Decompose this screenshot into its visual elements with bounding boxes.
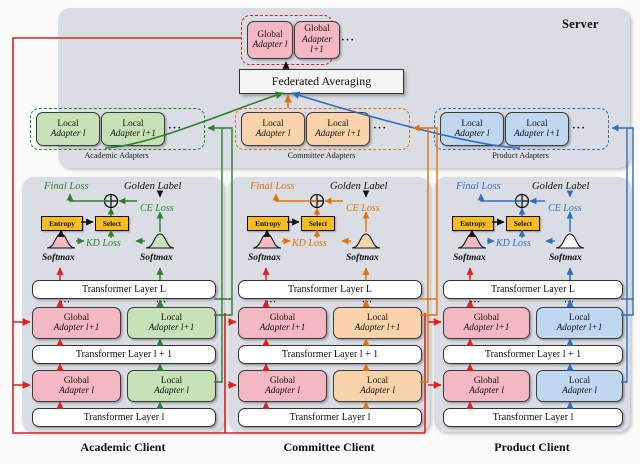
adapter-line1: Global <box>64 376 89 386</box>
committee-local-adapter-l[interactable]: Local Adapter l <box>241 112 305 146</box>
academic-transformer-layer-l[interactable]: Transformer Layer l <box>32 408 216 427</box>
product-adapters-ellipsis: ··· <box>572 122 586 134</box>
product-local-adapter-l1[interactable]: Local Adapter l+1 <box>505 112 569 146</box>
academic-ce-loss-label: CE Loss <box>140 203 174 214</box>
committee-local-adapter-l1[interactable]: Local Adapter l+1 <box>306 112 370 146</box>
select-label: Select <box>514 219 532 228</box>
product-local-adapter-l1-client[interactable]: Local Adapter l+1 <box>536 307 623 339</box>
adapter-line2: Adapter l+1 <box>464 323 510 333</box>
committee-transformer-layer-l-plus-1[interactable]: Transformer Layer l + 1 <box>238 345 422 364</box>
adapter-line2: Adapter l+1 <box>149 323 195 333</box>
layer-label: Transformer Layer l + 1 <box>282 349 378 360</box>
adapter-line2: Adapter l <box>253 40 288 50</box>
product-client-name: Product Client <box>434 440 630 455</box>
layer-label: Transformer Layer L <box>491 284 575 295</box>
academic-ellipsis-right: ··· <box>156 297 167 307</box>
select-label: Select <box>309 219 327 228</box>
committee-transformer-layer-l[interactable]: Transformer Layer l <box>238 408 422 427</box>
adapter-line2: Adapter l <box>469 386 504 396</box>
academic-global-adapter-l1[interactable]: Global Adapter l+1 <box>32 307 121 339</box>
global-adapter-l-server[interactable]: Global Adapter l <box>247 21 293 59</box>
adapter-line1: Global <box>474 313 499 323</box>
product-kd-loss-label: KD Loss <box>496 238 531 249</box>
adapter-line2: Adapter l+1 <box>260 323 306 333</box>
adapter-line2: Adapter l <box>562 386 597 396</box>
academic-global-adapter-l[interactable]: Global Adapter l <box>32 370 121 402</box>
academic-softmax-left-label: Softmax <box>42 253 75 263</box>
adapter-line2: Adapter l <box>256 129 291 139</box>
select-label: Select <box>103 219 121 228</box>
committee-global-adapter-l[interactable]: Global Adapter l <box>238 370 327 402</box>
academic-local-adapter-l[interactable]: Local Adapter l <box>36 112 100 146</box>
committee-final-loss-label: Final Loss <box>250 181 295 192</box>
layer-label: Transformer Layer l <box>493 412 574 423</box>
committee-adapters-ellipsis: ··· <box>373 122 387 134</box>
layer-label: Transformer Layer l + 1 <box>76 349 172 360</box>
adapter-line2: Adapter l+1 <box>355 323 401 333</box>
federated-averaging-box[interactable]: Federated Averaging <box>239 69 404 94</box>
adapter-line1: Global <box>64 313 89 323</box>
product-ellipsis-left: ··· <box>470 297 481 307</box>
academic-golden-label: Golden Label <box>124 181 181 192</box>
adapter-line1: Local <box>57 119 78 129</box>
committee-client-name: Committee Client <box>228 440 430 455</box>
academic-client-name: Academic Client <box>22 440 224 455</box>
layer-label: Transformer Layer l <box>290 412 371 423</box>
adapter-line1: Global <box>270 313 295 323</box>
academic-kd-loss-label: KD Loss <box>86 238 121 249</box>
committee-ce-loss-label: CE Loss <box>346 203 380 214</box>
committee-adapters-label: Committee Adapters <box>235 151 408 160</box>
layer-label: Transformer Layer L <box>288 284 372 295</box>
product-global-adapter-l1[interactable]: Global Adapter l+1 <box>443 307 530 339</box>
committee-global-adapter-l1[interactable]: Global Adapter l+1 <box>238 307 327 339</box>
committee-entropy-chip[interactable]: Entropy <box>247 216 289 231</box>
adapter-line1: Local <box>161 376 182 386</box>
global-adapter-ellipsis: ··· <box>341 34 355 46</box>
adapter-line1: Local <box>569 376 590 386</box>
committee-golden-label: Golden Label <box>330 181 387 192</box>
adapter-line2: Adapter l+1 <box>315 129 361 139</box>
entropy-label: Entropy <box>49 219 75 228</box>
entropy-label: Entropy <box>255 219 281 228</box>
committee-softmax-left-label: Softmax <box>248 253 281 263</box>
adapter-line1: Global <box>304 24 329 34</box>
adapter-line2: Adapter l+1 <box>110 129 156 139</box>
adapter-line1: Global <box>474 376 499 386</box>
product-adapters-label: Product Adapters <box>434 151 607 160</box>
academic-ellipsis-left: ··· <box>60 297 71 307</box>
product-final-loss-label: Final Loss <box>456 181 501 192</box>
adapter-line2: Adapter l+1 <box>557 323 603 333</box>
adapter-line1: Local <box>526 119 547 129</box>
product-global-adapter-l[interactable]: Global Adapter l <box>443 370 530 402</box>
product-local-adapter-l-client[interactable]: Local Adapter l <box>536 370 623 402</box>
global-adapter-l1-server[interactable]: Global Adapter l+1 <box>294 21 340 59</box>
academic-transformer-layer-l-plus-1[interactable]: Transformer Layer l + 1 <box>32 345 216 364</box>
adapter-line2: Adapter l <box>154 386 189 396</box>
adapter-line1: Local <box>161 313 182 323</box>
committee-local-adapter-l-client[interactable]: Local Adapter l <box>333 370 422 402</box>
adapter-line2: Adapter l <box>51 129 86 139</box>
adapter-line1: Local <box>461 119 482 129</box>
layer-label: Transformer Layer l + 1 <box>485 349 581 360</box>
product-ellipsis-right: ··· <box>564 297 575 307</box>
academic-adapters-label: Academic Adapters <box>30 151 203 160</box>
product-ce-loss-label: CE Loss <box>548 203 582 214</box>
federated-averaging-label: Federated Averaging <box>272 74 371 89</box>
academic-local-adapter-l1[interactable]: Local Adapter l+1 <box>101 112 165 146</box>
product-softmax-left-label: Softmax <box>453 253 486 263</box>
product-golden-label: Golden Label <box>532 181 589 192</box>
adapter-line1: Local <box>327 119 348 129</box>
adapter-line2: Adapter l <box>265 386 300 396</box>
adapter-line1: Local <box>122 119 143 129</box>
adapter-line2: Adapter l <box>455 129 490 139</box>
adapter-line2: Adapter l+1 <box>54 323 100 333</box>
adapter-line2: Adapter l+1 <box>514 129 560 139</box>
academic-local-adapter-l-client[interactable]: Local Adapter l <box>127 370 216 402</box>
committee-ellipsis-left: ··· <box>266 297 277 307</box>
adapter-line1: Local <box>367 376 388 386</box>
academic-final-loss-label: Final Loss <box>44 181 89 192</box>
diagram-root: Server Global Adapter l Global Adapter l… <box>0 0 640 464</box>
committee-softmax-right-label: Softmax <box>346 253 379 263</box>
product-transformer-layer-l[interactable]: Transformer Layer l <box>443 408 623 427</box>
adapter-line1: Local <box>367 313 388 323</box>
committee-select-chip[interactable]: Select <box>301 216 335 231</box>
layer-label: Transformer Layer l <box>84 412 165 423</box>
academic-entropy-chip[interactable]: Entropy <box>41 216 83 231</box>
product-local-adapter-l[interactable]: Local Adapter l <box>440 112 504 146</box>
academic-softmax-right-label: Softmax <box>140 253 173 263</box>
product-select-chip[interactable]: Select <box>506 216 540 231</box>
academic-select-chip[interactable]: Select <box>95 216 129 231</box>
adapter-line1: Global <box>257 30 282 40</box>
adapter-line2: Adapter l <box>360 386 395 396</box>
committee-local-adapter-l1-client[interactable]: Local Adapter l+1 <box>333 307 422 339</box>
adapter-line1: Global <box>270 376 295 386</box>
committee-ellipsis-right: ··· <box>362 297 373 307</box>
academic-adapters-ellipsis: ··· <box>168 122 182 134</box>
layer-label: Transformer Layer L <box>82 284 166 295</box>
entropy-label: Entropy <box>460 219 486 228</box>
product-transformer-layer-l-plus-1[interactable]: Transformer Layer l + 1 <box>443 345 623 364</box>
product-softmax-right-label: Softmax <box>549 253 582 263</box>
adapter-line2: Adapter l+1 <box>295 35 339 56</box>
adapter-line1: Local <box>569 313 590 323</box>
server-title: Server <box>562 17 599 32</box>
product-entropy-chip[interactable]: Entropy <box>452 216 494 231</box>
committee-kd-loss-label: KD Loss <box>292 238 327 249</box>
adapter-line2: Adapter l <box>59 386 94 396</box>
adapter-line1: Local <box>262 119 283 129</box>
academic-local-adapter-l1-client[interactable]: Local Adapter l+1 <box>127 307 216 339</box>
